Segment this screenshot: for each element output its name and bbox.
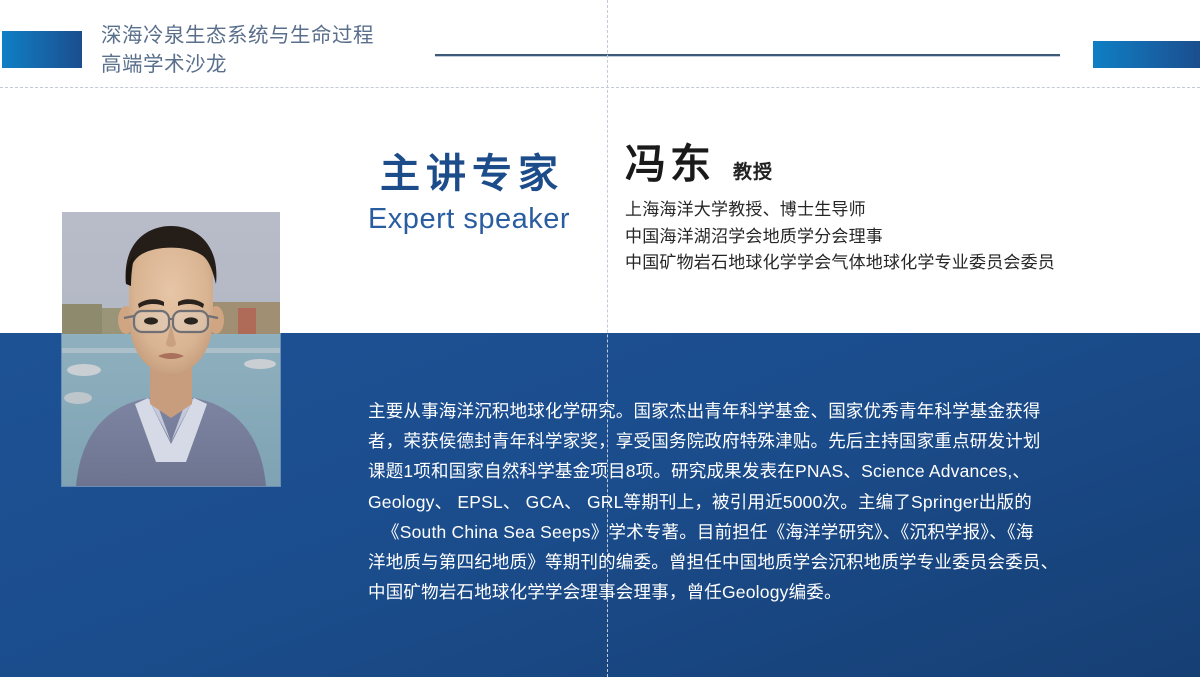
speaker-portrait-photo bbox=[62, 212, 280, 486]
biography-line: 中国矿物岩石地球化学学会理事会理事，曾任Geology编委。 bbox=[368, 577, 1168, 607]
speaker-name-row: 冯东 教授 bbox=[625, 130, 773, 190]
biography-line: 《South China Sea Seeps》学术专著。目前担任《海洋学研究》、… bbox=[368, 517, 1168, 547]
speaker-biography: 主要从事海洋沉积地球化学研究。国家杰出青年科学基金、国家优秀青年科学基金获得 者… bbox=[368, 396, 1168, 607]
biography-line: 课题1项和国家自然科学基金项目8项。研究成果发表在PNAS、Science Ad… bbox=[368, 456, 1168, 486]
affiliation-line: 中国海洋湖沼学会地质学分会理事 bbox=[625, 224, 1185, 251]
header-title: 深海冷泉生态系统与生命过程 高端学术沙龙 bbox=[101, 21, 441, 79]
portrait-image bbox=[62, 212, 280, 486]
affiliation-line: 中国矿物岩石地球化学学会气体地球化学专业委员会委员 bbox=[625, 250, 1185, 277]
expert-speaker-label: 主讲专家 Expert speaker bbox=[344, 150, 594, 238]
speaker-academic-rank: 教授 bbox=[733, 157, 773, 184]
biography-line: 者，荣获侯德封青年科学家奖，享受国务院政府特殊津贴。先后主持国家重点研发计划 bbox=[368, 426, 1168, 456]
header-accent-bar-right bbox=[1093, 41, 1200, 68]
biography-line: Geology、 EPSL、 GCA、 GRL等期刊上，被引用近5000次。主编… bbox=[368, 487, 1168, 517]
expert-speaker-label-cn: 主讲专家 bbox=[344, 150, 594, 198]
header-accent-bar-left bbox=[2, 31, 82, 68]
speaker-name: 冯东 bbox=[625, 130, 715, 190]
expert-speaker-label-en: Expert speaker bbox=[344, 200, 594, 238]
affiliation-line: 上海海洋大学教授、博士生导师 bbox=[625, 197, 1185, 224]
speaker-affiliations: 上海海洋大学教授、博士生导师 中国海洋湖沼学会地质学分会理事 中国矿物岩石地球化… bbox=[625, 197, 1185, 277]
biography-line: 洋地质与第四纪地质》等期刊的编委。曾担任中国地质学会沉积地质学专业委员会委员、 bbox=[368, 547, 1168, 577]
header-band: 深海冷泉生态系统与生命过程 高端学术沙龙 bbox=[0, 0, 1200, 88]
slide-root: 深海冷泉生态系统与生命过程 高端学术沙龙 bbox=[0, 0, 1200, 677]
horizontal-guide-line bbox=[0, 87, 1200, 88]
header-rule bbox=[435, 54, 1060, 56]
biography-line: 主要从事海洋沉积地球化学研究。国家杰出青年科学基金、国家优秀青年科学基金获得 bbox=[368, 396, 1168, 426]
header-rule-shadow bbox=[435, 56, 1060, 57]
